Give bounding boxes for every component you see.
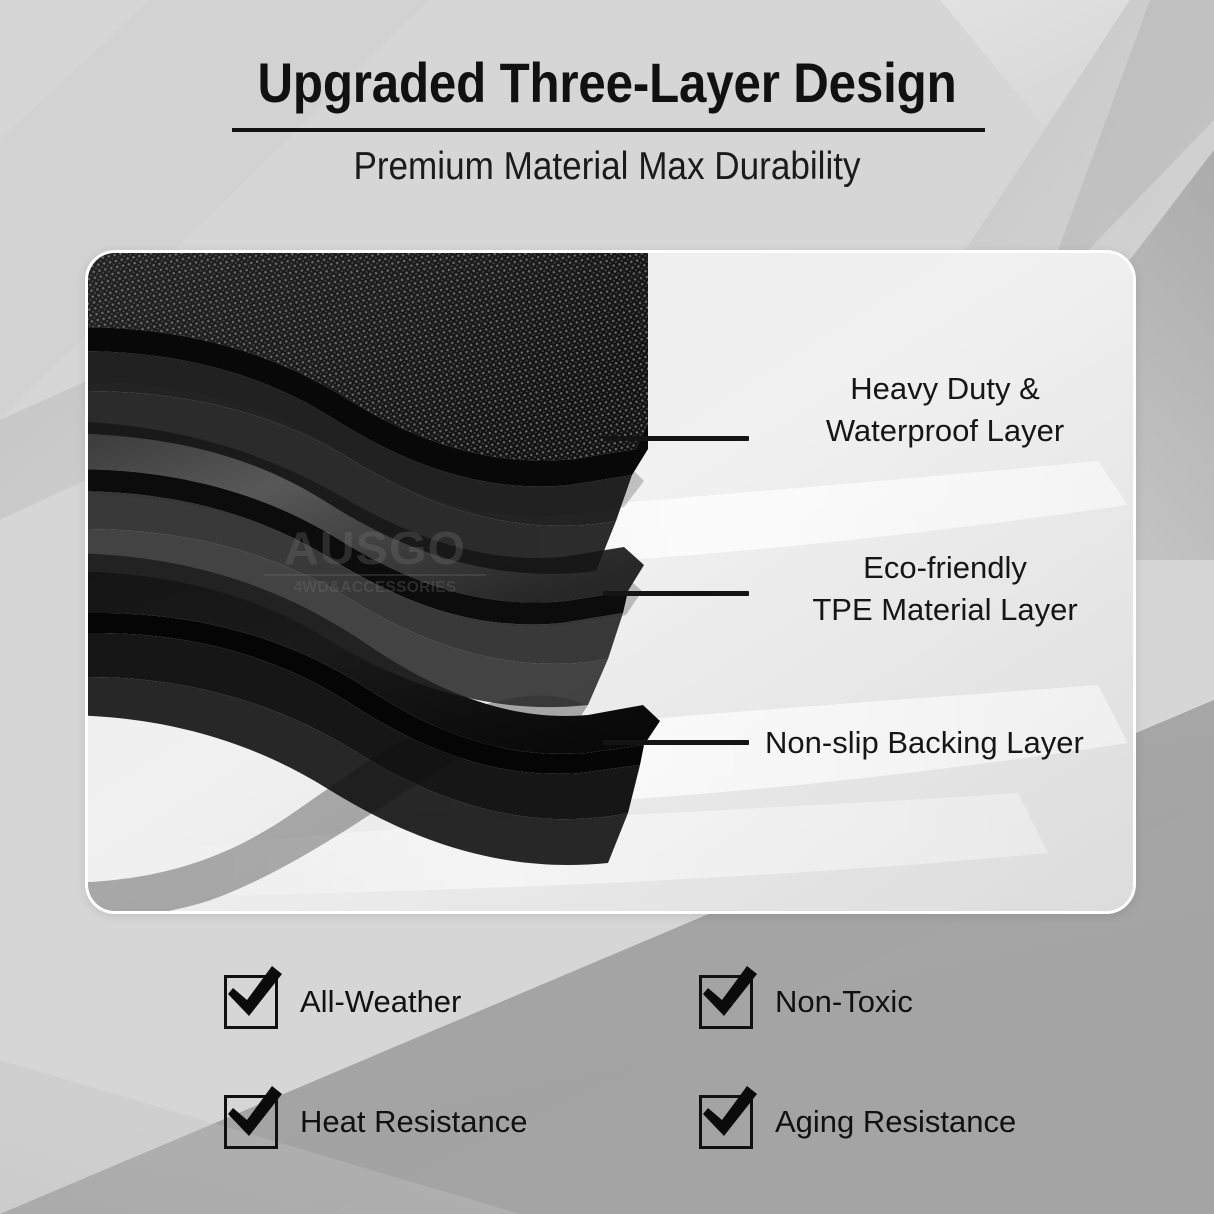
title-divider-rule	[232, 128, 985, 132]
check-icon	[695, 1084, 761, 1146]
callout-label-layer-3: Non-slip Backing Layer	[765, 722, 1115, 764]
feature-item-heat-resistance[interactable]: Heat Resistance	[224, 1095, 527, 1149]
feature-label-aging-resistance: Aging Resistance	[775, 1105, 1016, 1139]
leader-line-layer-2	[603, 591, 749, 596]
checkbox-heat-resistance[interactable]	[224, 1095, 278, 1149]
callout-label-layer-2: Eco-friendly TPE Material Layer	[775, 547, 1115, 631]
feature-item-all-weather[interactable]: All-Weather	[224, 975, 461, 1029]
header: Upgraded Three-Layer Design	[0, 0, 1214, 114]
feature-label-all-weather: All-Weather	[300, 985, 461, 1019]
leader-line-layer-3	[603, 740, 749, 745]
checkbox-aging-resistance[interactable]	[699, 1095, 753, 1149]
feature-item-aging-resistance[interactable]: Aging Resistance	[699, 1095, 1016, 1149]
check-icon	[220, 964, 286, 1026]
infographic-canvas: Upgraded Three-Layer Design Premium Mate…	[0, 0, 1214, 1214]
check-icon	[695, 964, 761, 1026]
callout-label-layer-1: Heavy Duty & Waterproof Layer	[775, 368, 1115, 452]
page-title: Upgraded Three-Layer Design	[73, 0, 1141, 114]
feature-item-non-toxic[interactable]: Non-Toxic	[699, 975, 913, 1029]
checkbox-non-toxic[interactable]	[699, 975, 753, 1029]
leader-line-layer-1	[603, 436, 749, 441]
checkbox-all-weather[interactable]	[224, 975, 278, 1029]
page-subtitle: Premium Material Max Durability	[61, 143, 1154, 191]
feature-label-non-toxic: Non-Toxic	[775, 985, 913, 1019]
feature-label-heat-resistance: Heat Resistance	[300, 1105, 527, 1139]
check-icon	[220, 1084, 286, 1146]
